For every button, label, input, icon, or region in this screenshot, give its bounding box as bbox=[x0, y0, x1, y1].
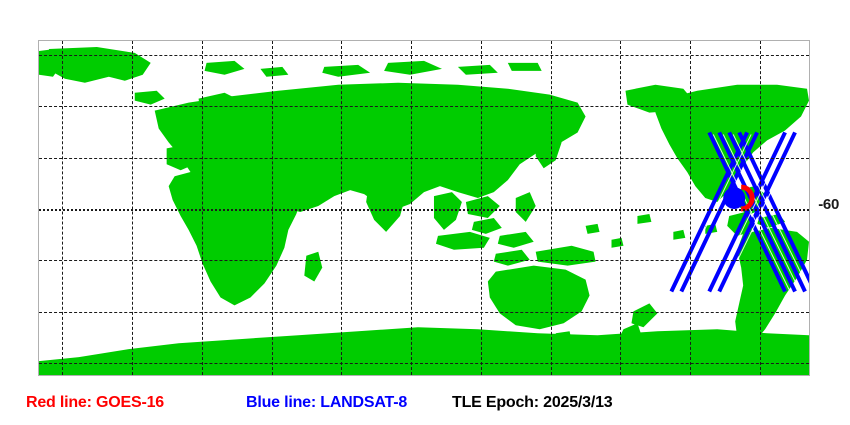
gridline-lat bbox=[39, 209, 809, 211]
landsat8-marker bbox=[723, 187, 745, 209]
gridline-lon bbox=[620, 41, 621, 375]
lon-tick-label: -60 bbox=[818, 196, 839, 213]
gridline-lat bbox=[39, 260, 809, 261]
gridline-lon bbox=[411, 41, 412, 375]
satellite-ground-tracks bbox=[39, 41, 809, 375]
gridline-lon bbox=[62, 41, 63, 375]
gridline-lat bbox=[39, 106, 809, 107]
legend-tle-epoch: TLE Epoch: 2025/3/13 bbox=[452, 394, 613, 412]
gridline-lat bbox=[39, 312, 809, 313]
legend-goes16: Red line: GOES-16 bbox=[26, 394, 164, 412]
gridline-lon bbox=[132, 41, 133, 375]
gridline-lon bbox=[341, 41, 342, 375]
legend-landsat8: Blue line: LANDSAT-8 bbox=[246, 394, 407, 412]
gridline-lat bbox=[39, 363, 809, 364]
legend: Red line: GOES-16 Blue line: LANDSAT-8 T… bbox=[0, 394, 850, 422]
gridline-lon bbox=[760, 41, 761, 375]
world-map-plot bbox=[38, 40, 810, 376]
gridline-lat bbox=[39, 55, 809, 56]
gridline-lon bbox=[202, 41, 203, 375]
gridline-lon bbox=[551, 41, 552, 375]
gridline-lat bbox=[39, 158, 809, 159]
gridline-lon bbox=[481, 41, 482, 375]
gridline-lon bbox=[272, 41, 273, 375]
gridline-lon bbox=[690, 41, 691, 375]
